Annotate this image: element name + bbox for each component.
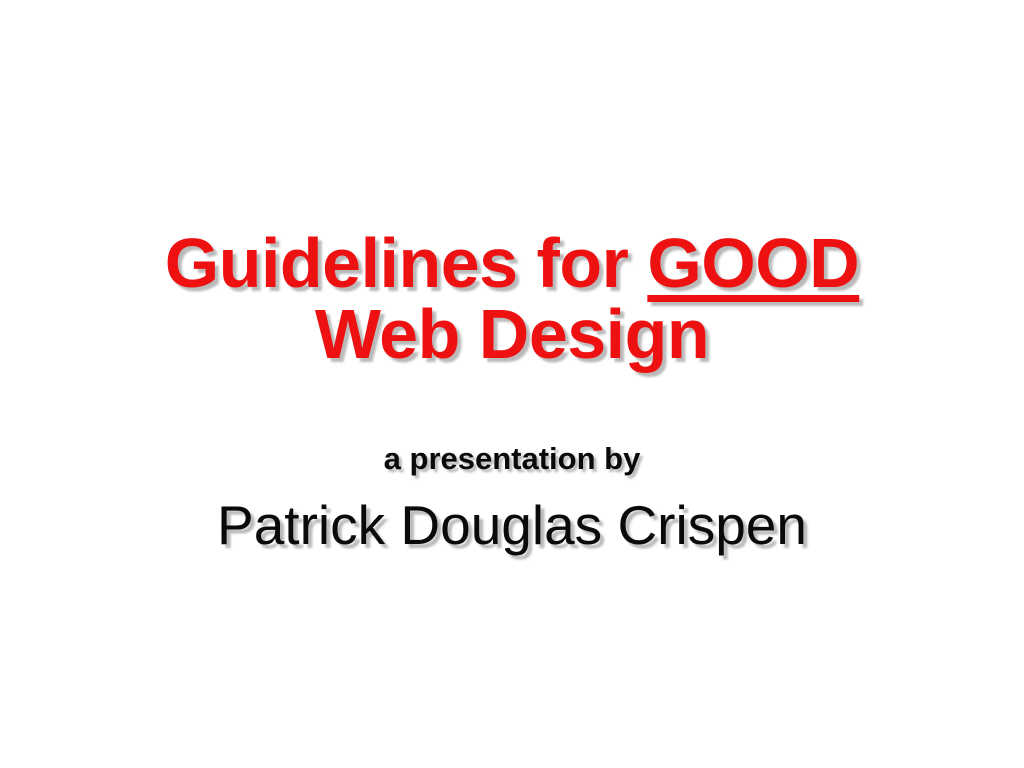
title-text-prefix: Guidelines for (165, 224, 648, 302)
title-emphasis-good: GOOD (647, 224, 859, 302)
presentation-slide: Guidelines for GOOD Web Design a present… (0, 0, 1024, 768)
subtitle-kicker: a presentation by (0, 440, 1024, 479)
slide-title-block: Guidelines for GOOD Web Design (0, 228, 1024, 371)
title-line-1: Guidelines for GOOD (0, 228, 1024, 299)
presenter-name: Patrick Douglas Crispen (0, 495, 1024, 557)
slide-subtitle-block: a presentation by Patrick Douglas Crispe… (0, 440, 1024, 556)
page-title: Guidelines for GOOD Web Design (0, 228, 1024, 371)
title-line-2: Web Design (0, 299, 1024, 370)
